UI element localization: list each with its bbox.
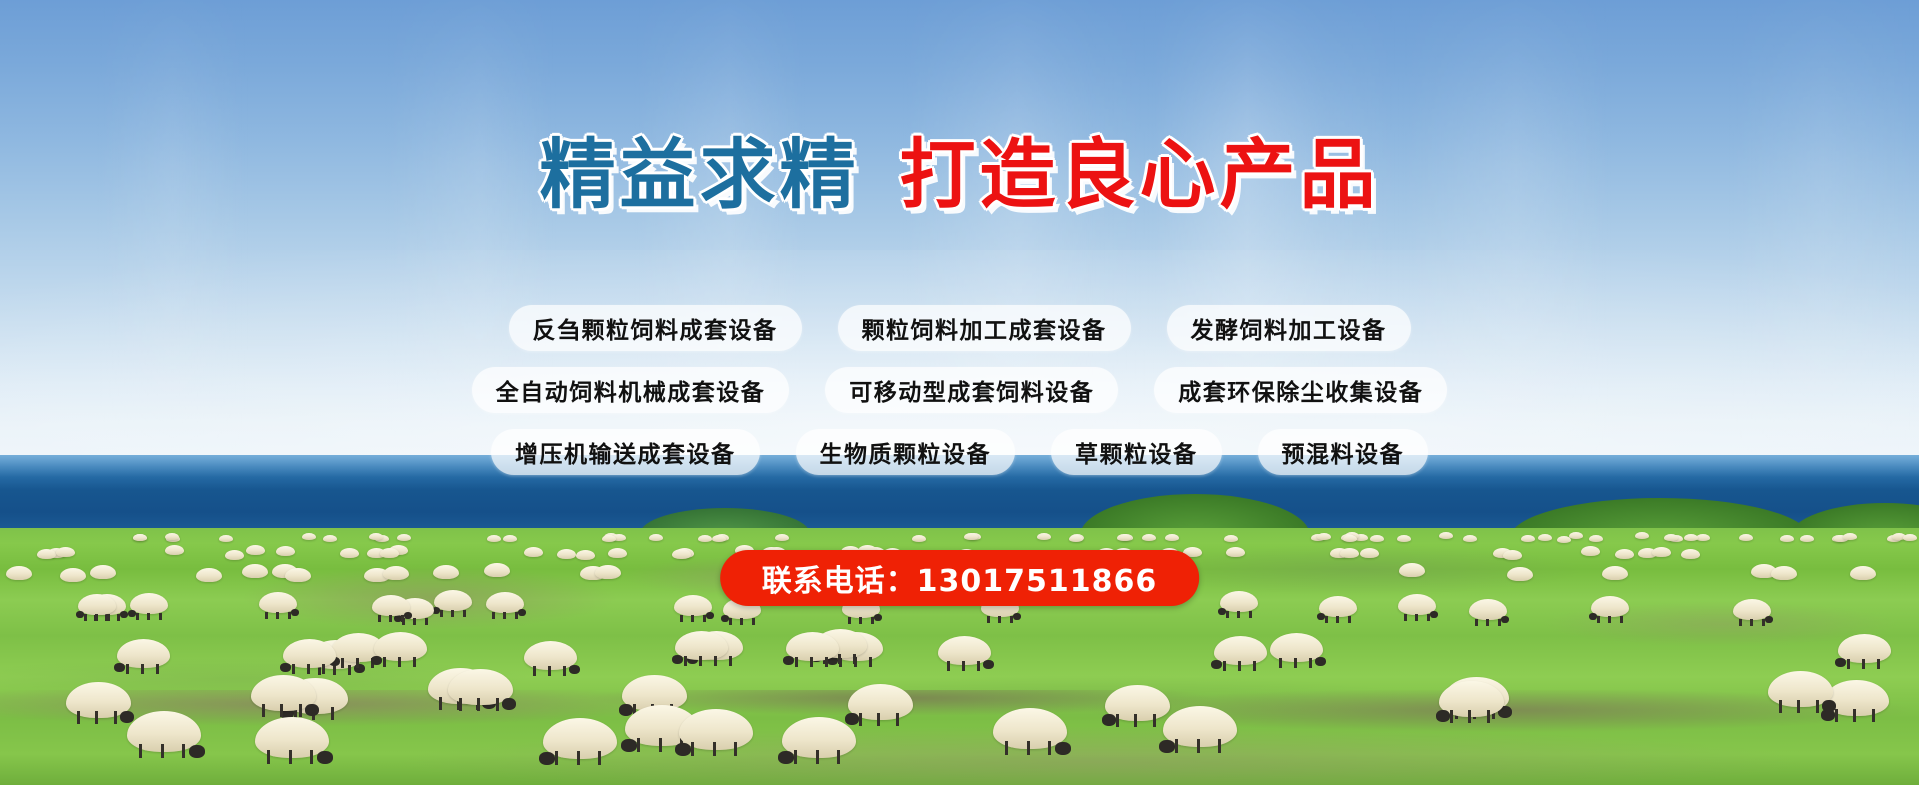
sheep [487, 535, 501, 542]
sheep-leg [141, 664, 144, 674]
sheep-leg [117, 614, 120, 621]
sheep-leg [1005, 741, 1008, 755]
sheep [1343, 535, 1357, 542]
sheep-leg [1862, 659, 1865, 669]
sheep-leg [356, 658, 359, 668]
sheep-leg [1294, 658, 1297, 668]
category-pill-rows: 反刍颗粒饲料成套设备 颗粒饲料加工成套设备 发酵饲料加工设备 全自动饲料机械成套… [0, 305, 1919, 491]
sheep-leg [825, 657, 828, 667]
sheep-head [983, 660, 994, 669]
sheep-head [1822, 700, 1836, 712]
sheep [557, 549, 576, 559]
sheep [1635, 532, 1649, 539]
sheep-leg [1175, 739, 1178, 753]
sheep [595, 565, 621, 579]
sheep-leg [871, 617, 874, 624]
sheep-leg [299, 704, 302, 717]
sheep-head [305, 704, 319, 716]
sheep-leg [816, 750, 819, 764]
sheep-head [120, 711, 134, 723]
sheep [712, 535, 726, 542]
sheep [374, 632, 427, 661]
headline-red-text: 打造良心产品 [900, 137, 1380, 213]
sheep [1165, 534, 1179, 541]
category-pill-booster-conveying-line[interactable]: 增压机输送成套设备 [491, 429, 760, 475]
sheep [1615, 549, 1634, 559]
sheep [1591, 596, 1629, 617]
sheep-leg [267, 750, 270, 764]
sheep-head [706, 612, 714, 619]
sheep-leg [947, 661, 950, 671]
sheep-leg [680, 615, 683, 622]
sheep-head [1317, 613, 1325, 620]
sheep [1319, 596, 1357, 617]
sheep-leg [1835, 709, 1838, 722]
sheep-leg [1348, 616, 1351, 623]
sheep [602, 535, 616, 542]
sheep [276, 546, 295, 556]
sheep-leg [1498, 619, 1501, 626]
sheep-leg [713, 742, 716, 756]
sheep-leg [1450, 710, 1453, 723]
sheep [225, 550, 244, 560]
sheep-leg [439, 697, 442, 710]
sheep [503, 535, 517, 542]
sheep-leg [440, 610, 443, 617]
sheep-head [721, 615, 729, 622]
sheep-leg [691, 742, 694, 756]
sheep-leg [752, 618, 755, 625]
sheep-head [539, 752, 555, 765]
sheep-leg [262, 704, 265, 717]
sheep-leg [1279, 658, 1282, 668]
page-title: 精益求精打造良心产品 [0, 137, 1919, 213]
sheep-leg [265, 612, 268, 619]
sheep-leg [1027, 741, 1030, 755]
category-row-1: 反刍颗粒饲料成套设备 颗粒饲料加工成套设备 发酵饲料加工设备 [0, 305, 1919, 351]
sheep-head [128, 610, 136, 617]
sheep [1681, 549, 1700, 559]
headline-blue-text: 精益求精 [540, 137, 860, 213]
sheep-leg [1238, 661, 1241, 671]
sheep [133, 534, 147, 541]
sheep [117, 639, 170, 668]
sheep [165, 545, 184, 555]
sheep [1398, 594, 1436, 615]
sheep [1569, 532, 1583, 539]
sheep-leg [1816, 700, 1819, 713]
sheep-leg [703, 615, 706, 622]
sheep-leg [1223, 661, 1226, 671]
sheep-head [569, 665, 580, 674]
sheep-leg [1779, 700, 1782, 713]
sheep [786, 632, 839, 661]
sheep-head [1765, 616, 1773, 623]
sheep-head [874, 614, 882, 621]
sheep [219, 535, 233, 542]
sheep-leg [837, 750, 840, 764]
sheep [90, 565, 116, 579]
sheep [127, 711, 201, 752]
sheep-head [672, 655, 683, 664]
sheep-leg [425, 618, 428, 625]
sheep-leg [126, 664, 129, 674]
sheep-leg [107, 614, 110, 621]
sheep [1557, 536, 1571, 543]
sheep [448, 669, 513, 705]
sheep [1163, 706, 1237, 747]
sheep-leg [333, 665, 336, 675]
sheep-leg [84, 614, 87, 621]
sheep-leg [159, 613, 162, 620]
sheep [433, 565, 459, 579]
sheep-leg [896, 713, 899, 726]
sheep-leg [555, 751, 558, 765]
sheep-leg [699, 656, 702, 666]
sheep [372, 595, 410, 616]
sheep-leg [161, 744, 164, 758]
sheep-leg [378, 615, 381, 622]
sheep-leg [463, 610, 466, 617]
sheep-head [1159, 740, 1175, 753]
sheep [285, 568, 311, 582]
sheep-leg [413, 657, 416, 667]
sheep [1399, 563, 1425, 577]
category-row-2: 全自动饲料机械成套设备 可移动型成套饲料设备 成套环保除尘收集设备 [0, 367, 1919, 413]
sheep-leg [503, 612, 506, 619]
sheep-leg [401, 615, 404, 622]
sheep-leg [794, 750, 797, 764]
sheep [323, 535, 337, 542]
sheep-leg [563, 666, 566, 676]
sheep-leg [288, 612, 291, 619]
sheep [1733, 599, 1771, 620]
sheep-leg [95, 614, 98, 621]
category-pill-mobile-feed-equipment-line[interactable]: 可移动型成套饲料设备 [825, 367, 1118, 413]
sheep-leg [691, 615, 694, 622]
sheep-head [371, 656, 382, 665]
sheep [165, 533, 179, 540]
sheep-leg [853, 654, 856, 664]
sheep-leg [1475, 619, 1478, 626]
sheep-leg [810, 657, 813, 667]
sheep [1771, 566, 1797, 580]
sheep [1360, 548, 1379, 558]
sheep [397, 534, 411, 541]
sheep [1224, 535, 1238, 542]
sheep-head [845, 713, 859, 725]
sheep-head [518, 609, 526, 616]
sheep [1069, 535, 1083, 542]
sheep-leg [389, 615, 392, 622]
sheep-leg [1226, 611, 1229, 618]
sheep-leg [280, 704, 283, 717]
sheep-leg [1797, 700, 1800, 713]
sheep-leg [289, 750, 292, 764]
sheep-leg [331, 707, 334, 720]
sheep-leg [795, 657, 798, 667]
sheep [1439, 532, 1453, 539]
sheep [1270, 633, 1323, 662]
sheep [302, 533, 316, 540]
sheep-leg [492, 612, 495, 619]
sheep [993, 708, 1067, 749]
sheep-head [621, 739, 637, 752]
sheep-leg [182, 744, 185, 758]
sheep [1696, 534, 1710, 541]
sheep-leg [1608, 616, 1611, 623]
sheep-head [317, 751, 333, 764]
sheep-leg [740, 618, 743, 625]
sheep-leg [838, 654, 841, 664]
sheep [1370, 535, 1384, 542]
sheep [912, 535, 926, 542]
sheep-head [675, 743, 691, 756]
sheep [1507, 567, 1533, 581]
sheep-leg [1134, 714, 1137, 727]
sheep [1439, 681, 1504, 717]
sheep [1664, 534, 1678, 541]
category-pill-fermented-feed-equipment[interactable]: 发酵饲料加工设备 [1167, 305, 1411, 351]
sheep-leg [998, 616, 1001, 623]
sheep-head [502, 698, 516, 710]
sheep-leg [459, 698, 462, 711]
sheep-leg [869, 657, 872, 667]
sheep [383, 566, 409, 580]
sheep-leg [1468, 710, 1471, 723]
sheep [380, 548, 399, 558]
sheep [1684, 534, 1698, 541]
sheep-leg [114, 711, 117, 724]
category-pill-biomass-pellet-equipment[interactable]: 生物质颗粒设备 [796, 429, 1016, 475]
sheep-head [1218, 608, 1226, 615]
sheep-leg [1597, 616, 1600, 623]
sheep-leg [1309, 658, 1312, 668]
sheep-leg [734, 742, 737, 756]
sheep [679, 709, 753, 750]
sheep [1768, 671, 1833, 707]
sheep [649, 534, 663, 541]
sheep-leg [1415, 614, 1418, 621]
sheep [543, 718, 617, 759]
sheep-head [1430, 611, 1438, 618]
sheep-head [619, 704, 633, 716]
sheep [674, 595, 712, 616]
sheep-leg [598, 751, 601, 765]
sheep-leg [977, 661, 980, 671]
sheep [283, 639, 336, 668]
sheep-leg [292, 664, 295, 674]
sheep-leg [307, 664, 310, 674]
sheep [1652, 547, 1671, 557]
sheep-leg [1325, 616, 1328, 623]
sheep-leg [1237, 611, 1240, 618]
category-pill-premix-equipment[interactable]: 预混料设备 [1258, 429, 1429, 475]
sheep-leg [95, 711, 98, 724]
sheep [1220, 591, 1258, 612]
promo-banner: 精益求精打造良心产品 反刍颗粒饲料成套设备 颗粒饲料加工成套设备 发酵饲料加工设… [0, 0, 1919, 785]
sheep-leg [383, 657, 386, 667]
sheep-leg [1010, 616, 1013, 623]
sheep [698, 535, 712, 542]
sheep [524, 547, 543, 557]
sheep-leg [962, 661, 965, 671]
sheep [251, 675, 316, 711]
sheep [1503, 550, 1522, 560]
sheep [1463, 535, 1477, 542]
sheep-head [1013, 613, 1021, 620]
sheep-leg [1872, 709, 1875, 722]
category-pill-ruminant-pellet-feed-line[interactable]: 反刍颗粒饲料成套设备 [509, 305, 802, 351]
sheep-head [189, 745, 205, 758]
sheep-leg [398, 657, 401, 667]
sheep-head [291, 609, 299, 616]
sheep [246, 545, 265, 555]
sheep [608, 548, 627, 558]
sheep [1843, 533, 1857, 540]
sheep [434, 590, 472, 611]
sheep-leg [1404, 614, 1407, 621]
sheep [1602, 566, 1628, 580]
sheep [1397, 535, 1411, 542]
sheep [1037, 533, 1051, 540]
sheep-leg [684, 656, 687, 666]
sheep [1903, 534, 1917, 541]
sheep-leg [1487, 710, 1490, 723]
sheep [964, 533, 978, 540]
sheep-leg [1116, 714, 1119, 727]
sheep [1469, 599, 1507, 620]
sheep [524, 641, 577, 670]
sheep-leg [859, 617, 862, 624]
sheep [66, 682, 131, 718]
sheep [1589, 535, 1603, 542]
sheep [486, 592, 524, 613]
sheep-leg [1877, 659, 1880, 669]
sheep [369, 533, 383, 540]
sheep-leg [156, 664, 159, 674]
sheep-leg [477, 698, 480, 711]
sheep-leg [714, 656, 717, 666]
sheep-leg [1249, 611, 1252, 618]
sheep-leg [1218, 739, 1221, 753]
sheep-leg [77, 711, 80, 724]
sheep-leg [341, 658, 344, 668]
sheep-head [783, 656, 794, 665]
sheep [1581, 546, 1600, 556]
sheep-head [1055, 742, 1071, 755]
category-pill-automatic-feed-machinery-line[interactable]: 全自动饲料机械成套设备 [472, 367, 790, 413]
sheep-leg [136, 613, 139, 620]
sheep-head [1501, 616, 1509, 623]
sheep-head [1102, 714, 1116, 726]
sheep-leg [1620, 616, 1623, 623]
sheep-head [1835, 658, 1846, 667]
sheep [1521, 535, 1535, 542]
sheep [6, 566, 32, 580]
sheep-leg [1336, 616, 1339, 623]
sheep-leg [1739, 619, 1742, 626]
sheep [60, 568, 86, 582]
sheep-leg [987, 616, 990, 623]
sheep-leg [859, 713, 862, 726]
sheep [1850, 566, 1876, 580]
sheep [576, 550, 595, 560]
sheep-head [1315, 657, 1326, 666]
category-row-3: 增压机输送成套设备 生物质颗粒设备 草颗粒设备 预混料设备 [0, 429, 1919, 475]
sheep-leg [877, 713, 880, 726]
sheep [37, 549, 56, 559]
sheep-leg [496, 698, 499, 711]
sheep-leg [1750, 619, 1753, 626]
sheep [1838, 634, 1891, 663]
sheep-leg [1853, 709, 1856, 722]
sheep [242, 564, 268, 578]
sheep [1142, 534, 1156, 541]
sheep-leg [1197, 739, 1200, 753]
sheep-head [778, 751, 794, 764]
category-pill-grass-pellet-equipment[interactable]: 草颗粒设备 [1051, 429, 1222, 475]
sheep [259, 592, 297, 613]
sheep-leg [848, 617, 851, 624]
sheep [130, 593, 168, 614]
sheep-leg [147, 613, 150, 620]
sheep-head [76, 611, 84, 618]
sheep-leg [322, 664, 325, 674]
sheep [1780, 535, 1794, 542]
sheep-leg [548, 666, 551, 676]
sheep-leg [276, 612, 279, 619]
sheep [1538, 534, 1552, 541]
sheep [78, 594, 116, 615]
sheep [1117, 534, 1131, 541]
sheep-leg [533, 666, 536, 676]
sheep-leg [637, 738, 640, 752]
sheep-head [280, 663, 291, 672]
sheep [1105, 685, 1170, 721]
sheep [56, 547, 75, 557]
sheep-leg [1486, 619, 1489, 626]
sheep-leg [451, 610, 454, 617]
sheep-leg [1847, 659, 1850, 669]
sheep [1214, 636, 1267, 665]
contact-phone-badge[interactable]: 联系电话：13017511866 [720, 550, 1200, 606]
sheep-leg [139, 744, 142, 758]
sheep-leg [348, 665, 351, 675]
sheep-leg [729, 618, 732, 625]
sheep-leg [659, 738, 662, 752]
sheep-head [1436, 710, 1450, 722]
sheep [782, 717, 856, 758]
sheep-head [120, 611, 128, 618]
sheep-head [114, 663, 125, 672]
sheep [848, 684, 913, 720]
category-pill-pellet-feed-processing-line[interactable]: 颗粒饲料加工成套设备 [838, 305, 1131, 351]
category-pill-dust-collection-line[interactable]: 成套环保除尘收集设备 [1154, 367, 1447, 413]
sheep [196, 568, 222, 582]
sheep-head [1211, 660, 1222, 669]
sheep-leg [515, 612, 518, 619]
sheep-head [1589, 613, 1597, 620]
sheep-leg [1048, 741, 1051, 755]
sheep [1317, 533, 1331, 540]
sheep-leg [1762, 619, 1765, 626]
sheep [1226, 547, 1245, 557]
sheep-leg [310, 750, 313, 764]
sheep [775, 534, 789, 541]
sheep-leg [1427, 614, 1430, 621]
sheep [938, 636, 991, 665]
